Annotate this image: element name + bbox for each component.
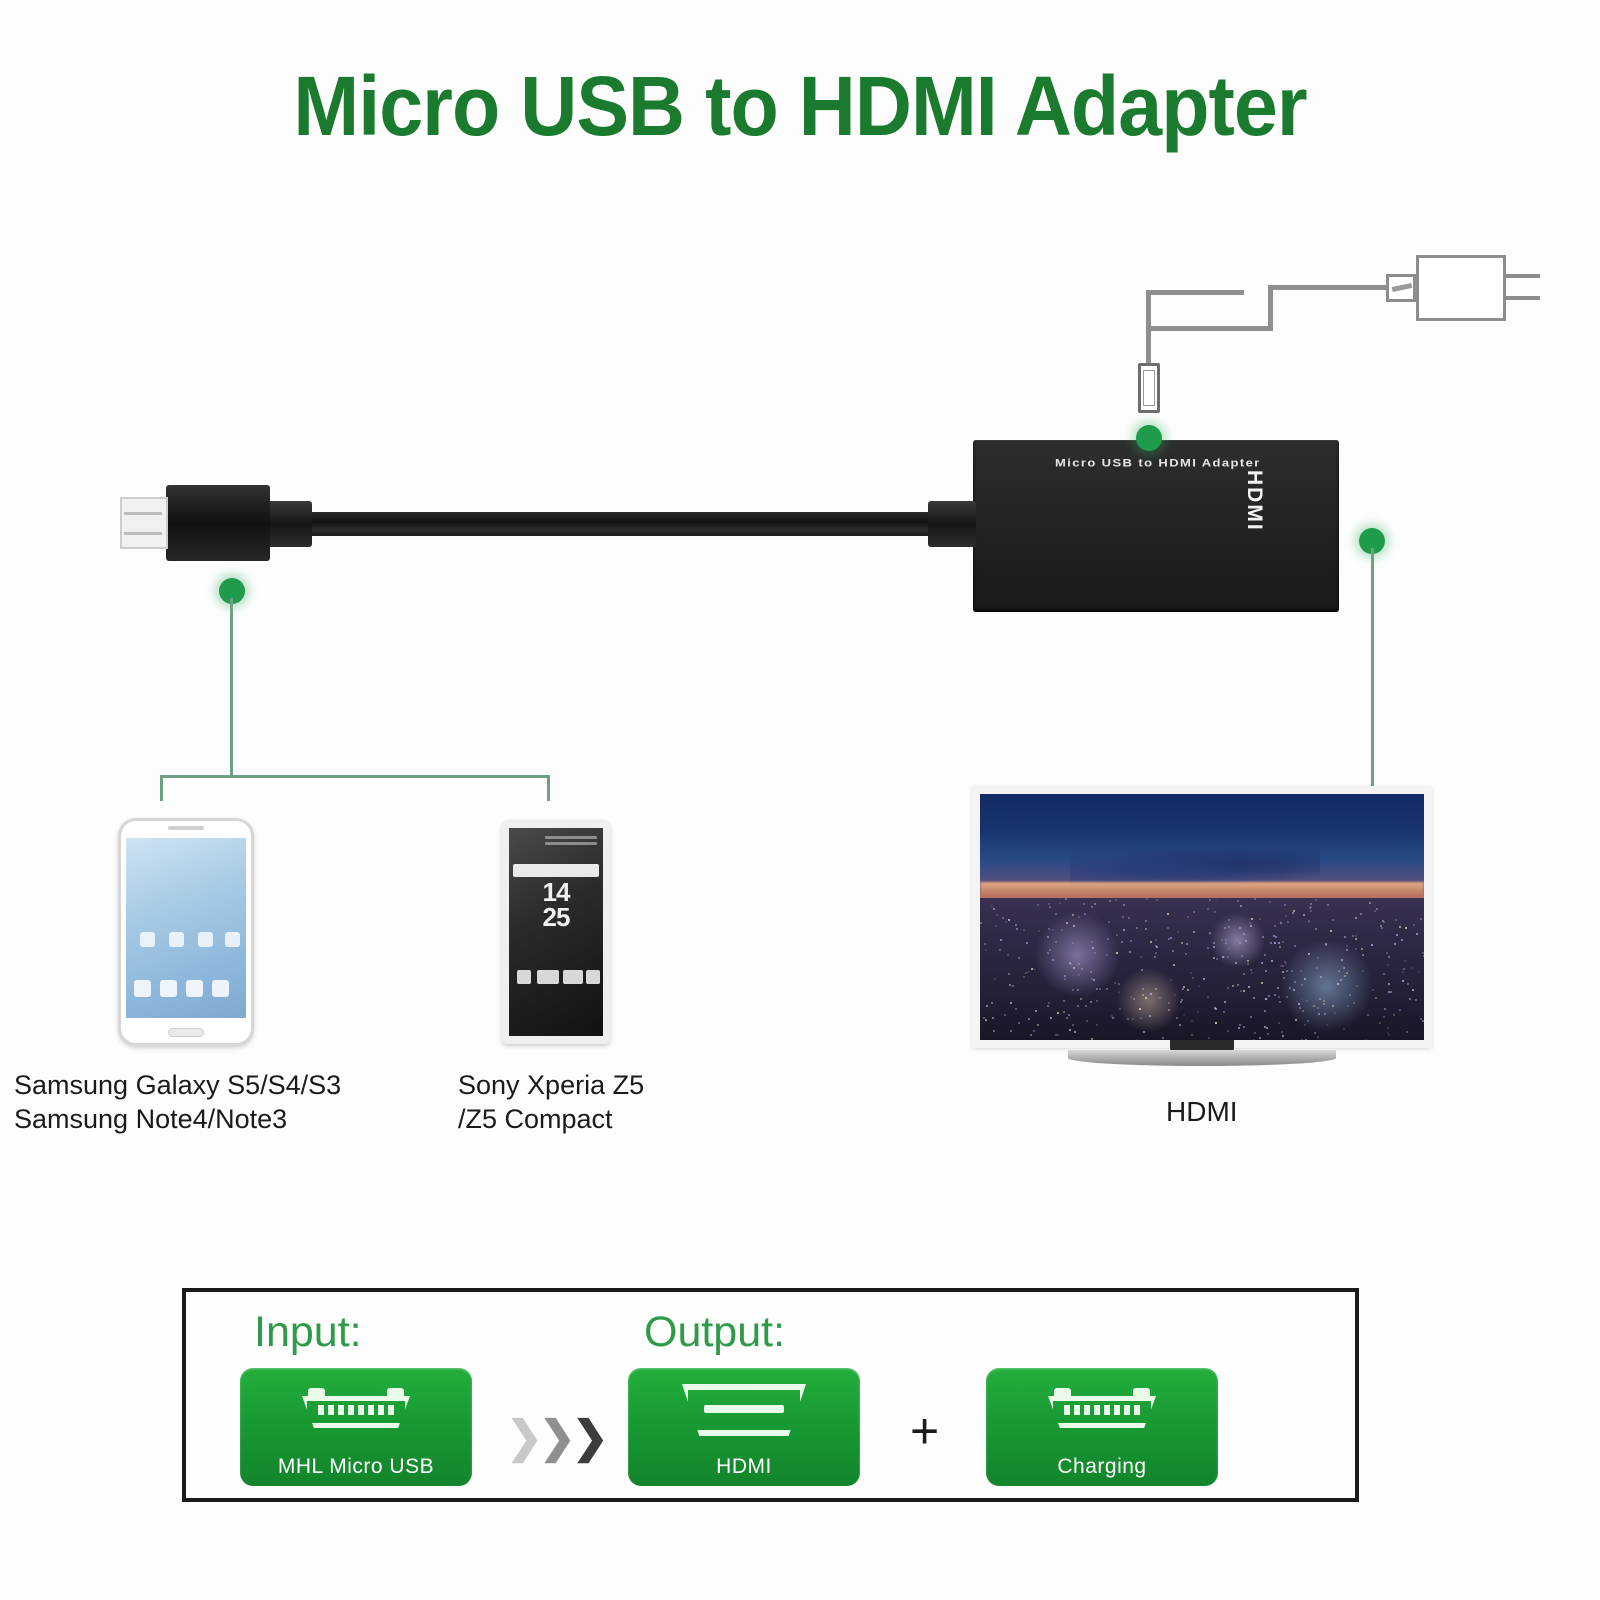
tv-city-light: [1243, 973, 1245, 975]
tv-city-light: [1080, 998, 1082, 1000]
tv-city-light: [1254, 898, 1256, 900]
tv-city-light: [1326, 1024, 1328, 1026]
tv-city-light: [1133, 998, 1135, 1000]
tv-city-light: [1422, 1020, 1424, 1022]
tv-city-light: [1416, 933, 1418, 935]
plus-sign: +: [910, 1402, 939, 1460]
tv-city-light: [1301, 1039, 1303, 1040]
sony-status-bar: [545, 836, 597, 850]
tv-city-light: [1106, 988, 1108, 990]
power-wire-segment: [1146, 326, 1151, 366]
tv-city-light: [1352, 935, 1354, 937]
tv-city-light: [1155, 988, 1157, 990]
tv-city-light: [1280, 922, 1282, 924]
legend-tile-mhl-micro-usb: MHL Micro USB: [240, 1368, 472, 1486]
sony-dock-icon: [517, 970, 531, 984]
tv-city-light: [1107, 938, 1109, 940]
tv-city-light: [1077, 989, 1079, 991]
tv-city-light: [1346, 972, 1348, 974]
tv-city-light: [1319, 998, 1321, 1000]
tv-city-light: [1018, 1022, 1020, 1024]
tv-city-light: [1070, 963, 1072, 965]
tv-city-light: [985, 1020, 987, 1022]
tv-city-light: [991, 905, 993, 907]
tv-city-light: [1149, 1015, 1151, 1017]
tv-city-light: [1353, 1002, 1355, 1004]
tv-city-light: [1213, 957, 1215, 959]
tv-city-light: [1156, 899, 1158, 901]
leader-bracket-end-left: [160, 775, 163, 801]
tv-city-light: [1145, 928, 1147, 930]
tv-city-light: [1323, 1003, 1325, 1005]
tv-city-light: [1402, 971, 1404, 973]
tv-city-light: [1237, 984, 1239, 986]
tv-city-light: [1310, 903, 1312, 905]
tv-city-light: [1237, 900, 1239, 902]
tv-city-light: [1224, 927, 1226, 929]
caption-samsung-devices: Samsung Galaxy S5/S4/S3 Samsung Note4/No…: [14, 1068, 341, 1136]
leader-line-micro-usb: [230, 598, 233, 776]
tv-city-light: [1025, 972, 1027, 974]
tv-city-light: [1008, 973, 1010, 975]
tv-city-light: [1313, 1005, 1315, 1007]
tv-city-light: [1059, 902, 1061, 904]
tv-city-light: [1145, 997, 1147, 999]
caption-tv-hdmi: HDMI: [1166, 1095, 1238, 1129]
sony-phone-screen: [509, 828, 603, 1036]
power-wire-segment: [1146, 290, 1244, 295]
tv-city-light: [1405, 927, 1407, 929]
samsung-dock-icon: [160, 980, 177, 997]
tv-city-light: [1403, 968, 1405, 970]
marker-dot-power-input: [1136, 425, 1162, 451]
tv-city-light: [1028, 1018, 1030, 1020]
tv-city-light: [1407, 983, 1409, 985]
tv-city-light: [1155, 939, 1157, 941]
adapter-cable: [270, 512, 976, 536]
tv-city-light: [1376, 908, 1378, 910]
tv-city-light: [1355, 917, 1357, 919]
tv-city-light: [1209, 899, 1211, 901]
tv-cityscape: [980, 898, 1424, 1040]
tv-city-light: [1140, 1017, 1142, 1019]
tv-city-light: [1224, 1001, 1226, 1003]
tv-city-light: [1318, 1013, 1320, 1015]
legend-tile-charging: Charging: [986, 1368, 1218, 1486]
tv-city-light: [1167, 913, 1169, 915]
tv-city-light: [1227, 987, 1229, 989]
tv-city-light: [1077, 1005, 1079, 1007]
tv-city-light: [1248, 986, 1250, 988]
tv-city-light: [1383, 973, 1385, 975]
tv-city-light: [1092, 947, 1094, 949]
page-title: Micro USB to HDMI Adapter: [48, 58, 1552, 155]
tv-city-light: [1172, 950, 1174, 952]
tv-city-light: [1159, 997, 1161, 999]
tv-city-light: [1150, 941, 1152, 943]
tv-city-light: [1026, 942, 1028, 944]
tv-city-light: [993, 908, 995, 910]
tv-city-light: [1064, 978, 1066, 980]
tv-city-light: [1249, 922, 1251, 924]
tv-city-light: [1399, 1009, 1401, 1011]
tv-city-light: [1176, 1017, 1178, 1019]
tv-city-light: [1315, 928, 1317, 930]
sony-dock-icon: [537, 970, 559, 984]
tv-city-light: [1048, 1002, 1050, 1004]
tv-city-light: [1007, 954, 1009, 956]
tv-city-light: [1387, 1027, 1389, 1029]
tv-city-light: [1355, 948, 1357, 950]
micro-usb-port-icon: [1042, 1388, 1162, 1432]
legend-tile-label: MHL Micro USB: [240, 1455, 472, 1479]
tv-city-light: [1294, 945, 1296, 947]
micro-usb-connector-tip: [120, 497, 168, 549]
tv-city-light: [1404, 960, 1406, 962]
tv-city-light: [995, 925, 997, 927]
tv-city-light: [1298, 1003, 1300, 1005]
tv-city-light: [1122, 916, 1124, 918]
tv-city-light: [1193, 931, 1195, 933]
tv-city-light: [1316, 967, 1318, 969]
tv-city-light: [1268, 995, 1270, 997]
tv-city-light: [1050, 1017, 1052, 1019]
tv-city-light: [1291, 970, 1293, 972]
tv-city-light: [1227, 956, 1229, 958]
tv-city-light: [1369, 902, 1371, 904]
tv-city-light: [1183, 1014, 1185, 1016]
tv-city-light: [1245, 940, 1247, 942]
tv-city-light: [986, 1005, 988, 1007]
tv-city-light: [1227, 1030, 1229, 1032]
tv-city-light: [1306, 1000, 1308, 1002]
tv-city-light: [1108, 921, 1110, 923]
tv-city-light: [1346, 949, 1348, 951]
tv-city-light: [1304, 978, 1306, 980]
tv-city-light: [1181, 942, 1183, 944]
tv-city-light: [1261, 962, 1263, 964]
tv-city-light: [1247, 963, 1249, 965]
tv-city-light: [1343, 1028, 1345, 1030]
tv-city-light: [1388, 991, 1390, 993]
tv-city-light: [1286, 996, 1288, 998]
tv-city-light: [1349, 994, 1351, 996]
tv-city-light: [1179, 1024, 1181, 1026]
tv-city-light: [1055, 913, 1057, 915]
tv-city-light: [1009, 984, 1011, 986]
tv-city-light: [1214, 911, 1216, 913]
tv-city-light: [1078, 974, 1080, 976]
tv-city-light: [1215, 898, 1217, 900]
tv-city-light: [1264, 954, 1266, 956]
tv-city-light: [1187, 989, 1189, 991]
tv-city-light: [1048, 903, 1050, 905]
tv-city-light: [1269, 901, 1271, 903]
tv-city-light: [1362, 970, 1364, 972]
tv-city-light: [1145, 920, 1147, 922]
plug-prong-top: [1506, 274, 1540, 278]
tv-city-light: [1038, 930, 1040, 932]
tv-city-light: [1094, 903, 1096, 905]
tv-city-light: [1395, 919, 1397, 921]
tv-city-light: [1330, 930, 1332, 932]
tv-city-light: [1187, 916, 1189, 918]
tv-city-light: [1390, 991, 1392, 993]
tv-city-light: [1198, 985, 1200, 987]
tv-city-light: [1010, 1030, 1012, 1032]
tv-city-light: [1340, 979, 1342, 981]
tv-city-light: [1015, 1008, 1017, 1010]
tv-city-light: [1136, 1039, 1138, 1040]
tv-city-light: [1023, 976, 1025, 978]
tv-city-light: [1132, 1018, 1134, 1020]
tv-city-light: [1129, 951, 1131, 953]
tv-city-light: [1033, 1030, 1035, 1032]
tv-city-light: [1285, 915, 1287, 917]
tv-city-light: [1207, 947, 1209, 949]
sony-dock-icon: [563, 970, 583, 984]
tv-city-light: [1213, 942, 1215, 944]
tv-city-light: [1239, 942, 1241, 944]
tv-city-light: [1213, 946, 1215, 948]
power-wire-segment: [1146, 290, 1151, 331]
tv-city-light: [984, 943, 986, 945]
tv-city-light: [1300, 970, 1302, 972]
tv-city-light: [1004, 1014, 1006, 1016]
tv-city-light: [1254, 1032, 1256, 1034]
tv-city-light: [1037, 904, 1039, 906]
tv-city-light: [1411, 967, 1413, 969]
tv-city-light: [1168, 1002, 1170, 1004]
tv-city-light: [1308, 953, 1310, 955]
tv-city-light: [1367, 1014, 1369, 1016]
tv-city-light: [1018, 957, 1020, 959]
tv-city-light: [1413, 924, 1415, 926]
tv-city-light: [1282, 1035, 1284, 1037]
tv-city-light: [1302, 1010, 1304, 1012]
tv-city-light: [1035, 1010, 1037, 1012]
tv-city-light: [1320, 976, 1322, 978]
power-wire-segment: [1146, 326, 1273, 331]
tv-city-light: [1399, 926, 1401, 928]
tv-city-light: [1170, 979, 1172, 981]
tv-city-light: [1027, 971, 1029, 973]
tv-city-light: [1191, 1034, 1193, 1036]
tv-city-light: [1081, 968, 1083, 970]
leader-line-hdmi: [1371, 548, 1374, 786]
tv-city-light: [1216, 958, 1218, 960]
samsung-dock-icon: [134, 980, 151, 997]
tv-city-light: [1251, 972, 1253, 974]
tv-city-light: [1344, 936, 1346, 938]
tv-city-light: [1066, 922, 1068, 924]
tv-city-light: [1387, 964, 1389, 966]
tv-city-light: [1356, 985, 1358, 987]
samsung-dock-icon: [186, 980, 203, 997]
tv-city-light: [1278, 996, 1280, 998]
tv-city-light: [1096, 988, 1098, 990]
tv-city-light: [1207, 996, 1209, 998]
micro-usb-port-icon: [296, 1388, 416, 1432]
tv-city-light: [1420, 918, 1422, 920]
tv-city-light: [1250, 925, 1252, 927]
tv-city-light: [1065, 898, 1067, 900]
tv-city-light: [1287, 921, 1289, 923]
samsung-dock-icon: [212, 980, 229, 997]
tv-city-light: [1347, 1005, 1349, 1007]
tv-city-light: [1262, 936, 1264, 938]
tv-city-light: [994, 978, 996, 980]
tv-city-light: [1346, 945, 1348, 947]
tv-city-light: [1355, 938, 1357, 940]
tv-city-light: [1214, 1007, 1216, 1009]
tv-city-light: [1057, 1034, 1059, 1036]
tv-city-light: [1343, 967, 1345, 969]
tv-city-light: [1139, 1008, 1141, 1010]
tv-city-light: [1239, 927, 1241, 929]
tv-city-light: [1379, 1022, 1381, 1024]
tv-city-light: [1048, 928, 1050, 930]
tv-city-light: [1073, 967, 1075, 969]
tv-city-light: [1090, 1001, 1092, 1003]
tv-city-light: [1240, 990, 1242, 992]
tv-city-light: [1223, 1011, 1225, 1013]
tv-city-light: [1000, 939, 1002, 941]
tv-city-light: [1072, 989, 1074, 991]
tv-city-light: [1010, 1002, 1012, 1004]
tv-city-light: [1264, 1010, 1266, 1012]
tv-city-light: [1052, 959, 1054, 961]
tv-city-light: [1241, 955, 1243, 957]
tv-city-light: [1091, 941, 1093, 943]
tv-city-light: [1112, 1017, 1114, 1019]
tv-city-light: [1279, 1001, 1281, 1003]
tv-city-light: [1185, 953, 1187, 955]
tv-city-light: [1061, 929, 1063, 931]
tv-city-light: [1409, 998, 1411, 1000]
tv-city-light: [1310, 910, 1312, 912]
tv-city-light: [1307, 1020, 1309, 1022]
tv-city-light: [1274, 994, 1276, 996]
tv-city-light: [1073, 925, 1075, 927]
tv-city-light: [1083, 903, 1085, 905]
tv-city-light: [1225, 942, 1227, 944]
tv-city-light: [1303, 914, 1305, 916]
tv-city-light: [1362, 954, 1364, 956]
tv-city-light: [1191, 1020, 1193, 1022]
tv-screen: [980, 794, 1424, 1040]
tv-city-light: [1093, 979, 1095, 981]
tv-city-light: [1072, 942, 1074, 944]
tv-city-light: [1143, 1031, 1145, 1033]
tv-city-light: [1193, 911, 1195, 913]
tv-city-light: [1091, 1038, 1093, 1040]
adapter-hdmi-port-label: HDMI: [1242, 470, 1266, 590]
tv-city-light: [1418, 971, 1420, 973]
adapter-printed-label: Micro USB to HDMI Adapter: [1055, 456, 1261, 469]
tv-city-light: [1069, 1029, 1071, 1031]
tv-city-light: [1023, 929, 1025, 931]
tv-city-light: [1127, 1018, 1129, 1020]
tv-city-light: [1388, 983, 1390, 985]
tv-city-light: [1301, 998, 1303, 1000]
tv-city-light: [1265, 998, 1267, 1000]
tv-city-light: [1422, 952, 1424, 954]
tv-city-light: [1085, 1005, 1087, 1007]
tv-city-light: [1305, 1039, 1307, 1041]
tv-city-light: [1063, 1011, 1065, 1013]
leader-bracket-end-right: [547, 775, 550, 801]
tv-city-light: [1197, 1011, 1199, 1013]
tv-city-light: [1141, 969, 1143, 971]
legend-output-heading: Output:: [644, 1308, 785, 1357]
tv-city-light: [1317, 1007, 1319, 1009]
tv-city-light: [980, 922, 982, 924]
tv-city-light: [1091, 906, 1093, 908]
tv-city-light: [1332, 919, 1334, 921]
tv-city-light: [1096, 1024, 1098, 1026]
tv-stand-base: [1068, 1050, 1336, 1066]
tv-city-light: [983, 1017, 985, 1019]
tv-city-light: [1109, 900, 1111, 902]
tv-city-light: [1334, 1012, 1336, 1014]
tv-city-light: [1292, 912, 1294, 914]
tv-city-light: [1278, 942, 1280, 944]
tv-city-light: [1115, 899, 1117, 901]
cable-strain-relief-left: [264, 501, 312, 547]
tv-city-light: [1388, 956, 1390, 958]
hdmi-port-icon: [682, 1384, 806, 1436]
tv-city-light: [1393, 1014, 1395, 1016]
tv-city-light: [1250, 969, 1252, 971]
tv-city-light: [1275, 936, 1277, 938]
tv-city-light: [1033, 968, 1035, 970]
tv-city-light: [1228, 926, 1230, 928]
tv-city-light: [1284, 904, 1286, 906]
legend-tile-label: HDMI: [628, 1455, 860, 1479]
tv-city-light: [1228, 948, 1230, 950]
tv-city-light: [1182, 988, 1184, 990]
tv-city-light: [1181, 999, 1183, 1001]
tv-city-light: [1243, 933, 1245, 935]
tv-city-light: [1386, 952, 1388, 954]
sony-clock-widget: 14 25: [509, 880, 603, 930]
sony-search-bar: [513, 864, 599, 877]
samsung-earpiece: [168, 826, 204, 830]
legend-tile-label: Charging: [986, 1455, 1218, 1479]
tv-city-light: [1253, 997, 1255, 999]
tv-city-light: [1283, 977, 1285, 979]
tv-city-light: [1225, 939, 1227, 941]
tv-city-light: [1130, 940, 1132, 942]
tv-city-light: [1295, 1019, 1297, 1021]
tv-city-light: [1190, 972, 1192, 974]
tv-city-light: [1374, 910, 1376, 912]
tv-city-light: [991, 1002, 993, 1004]
tv-city-light: [1121, 941, 1123, 943]
tv-city-light: [1063, 1000, 1065, 1002]
tv-city-light: [1338, 970, 1340, 972]
tv-city-light: [1047, 936, 1049, 938]
tv-city-light: [1360, 913, 1362, 915]
tv-city-light: [1055, 941, 1057, 943]
tv-city-light: [1119, 1008, 1121, 1010]
tv-city-light: [1261, 982, 1263, 984]
tv-city-light: [1123, 904, 1125, 906]
cable-strain-relief-right: [928, 501, 976, 547]
tv-city-light: [1251, 918, 1253, 920]
tv-city-light: [1271, 960, 1273, 962]
